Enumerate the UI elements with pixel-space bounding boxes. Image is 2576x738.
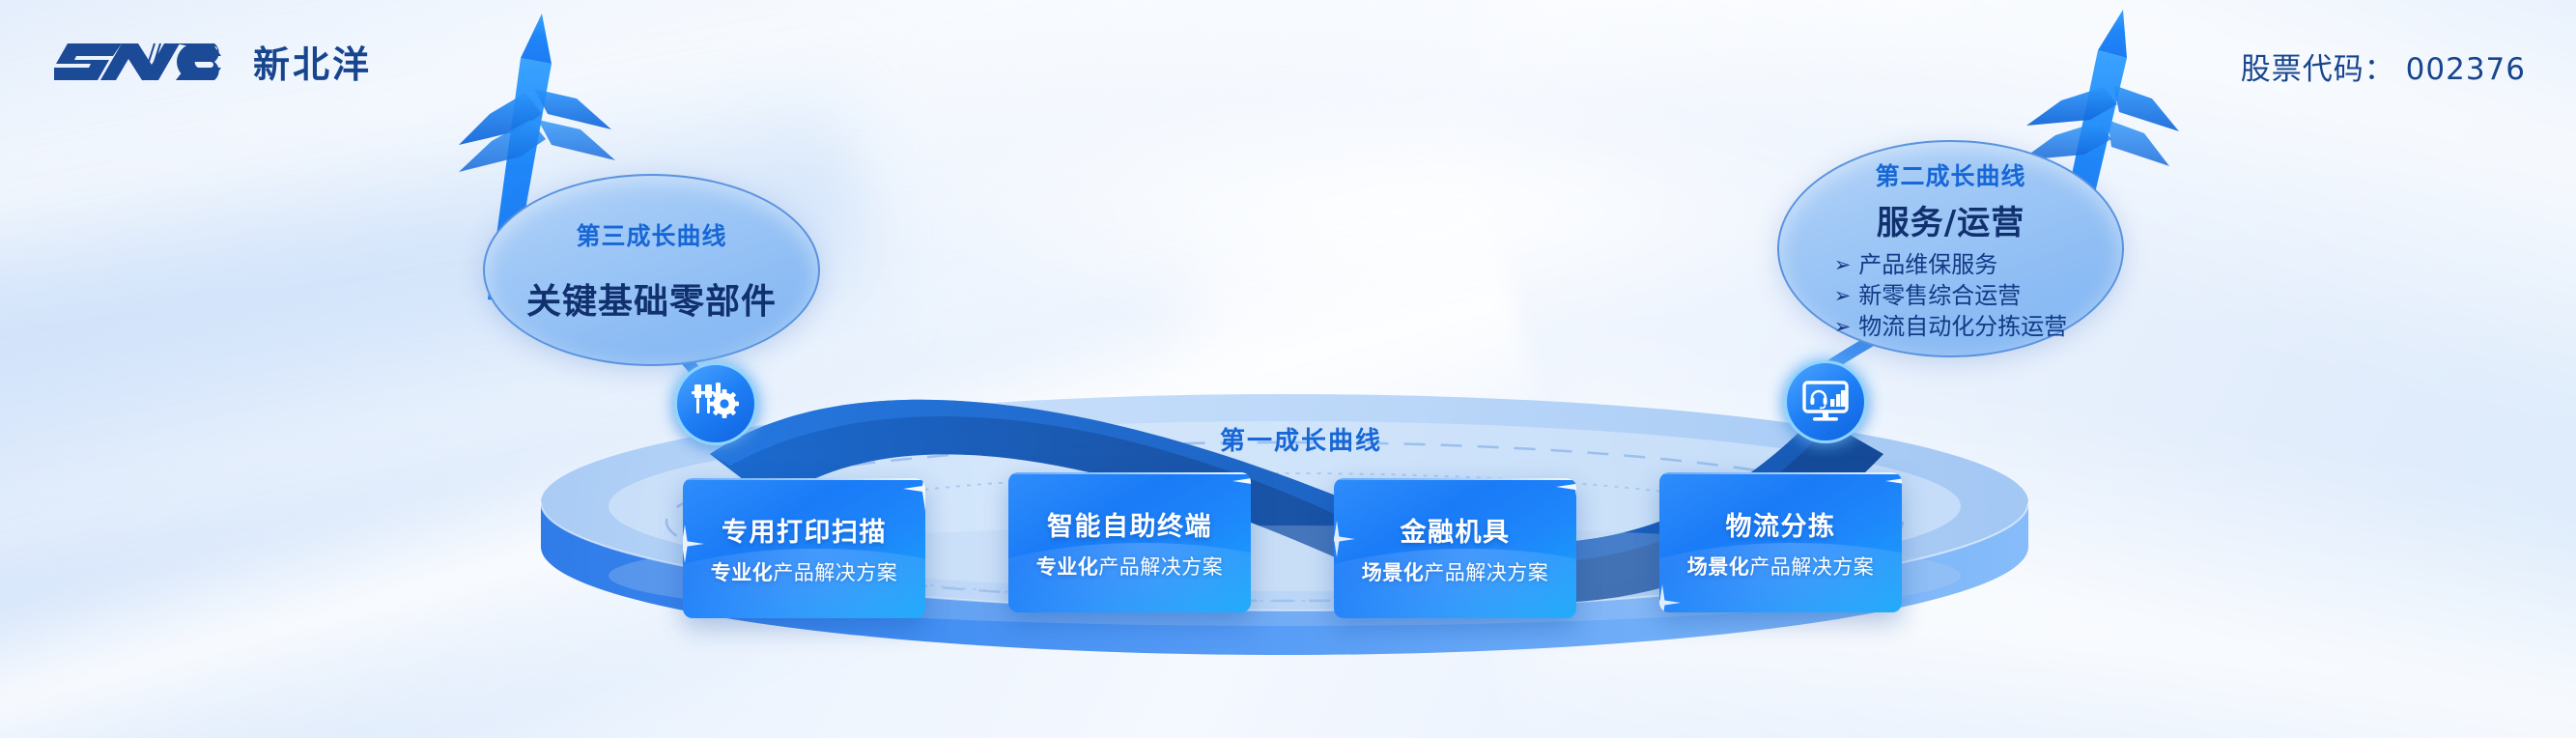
sparkle-icon [683, 525, 704, 563]
infographic-canvas: 新北洋 股票代码： 002376 第三成长曲线 关键基础零部件 第二成长曲线 服… [0, 0, 2576, 738]
card-subtitle: 场景化产品解决方案 [1362, 557, 1549, 586]
first-curve-label: 第一成长曲线 [1220, 421, 1382, 457]
sliders-gear-icon[interactable] [674, 362, 757, 445]
list-item: ➢ 新零售综合运营 [1834, 280, 2068, 311]
card-subtitle-strong: 场景化 [1362, 561, 1425, 584]
brand-logo-cn: 新北洋 [253, 35, 372, 88]
monitor-headset-chart-icon[interactable] [1784, 360, 1867, 443]
card-subtitle-strong: 专业化 [1036, 555, 1099, 579]
list-item-label: 新零售综合运营 [1858, 280, 2021, 311]
sparkle-icon [1334, 521, 1355, 557]
card-subtitle: 专业化产品解决方案 [711, 557, 898, 586]
card-subtitle-rest: 产品解决方案 [773, 561, 897, 584]
bullet-arrow-icon: ➢ [1834, 317, 1852, 337]
third-curve-tag: 第三成长曲线 [576, 217, 726, 252]
card-subtitle-rest: 产品解决方案 [1424, 561, 1548, 584]
growth-curve-graphic [0, 0, 2576, 738]
brand-logo: 新北洋 [54, 35, 372, 88]
second-curve-headline: 服务/运营 [1877, 196, 2024, 243]
snbc-logo-icon [54, 36, 238, 88]
sparkle-icon [1659, 584, 1681, 612]
list-item: ➢ 物流自动化分拣运营 [1834, 311, 2068, 342]
card-title: 金融机具 [1401, 511, 1511, 549]
card-subtitle: 场景化产品解决方案 [1687, 552, 1875, 581]
card-subtitle-strong: 场景化 [1687, 555, 1750, 579]
second-curve-tag: 第二成长曲线 [1875, 157, 2025, 192]
card-subtitle-strong: 专业化 [711, 561, 774, 584]
third-growth-curve-bubble[interactable]: 第三成长曲线 关键基础零部件 [483, 174, 820, 366]
sparkle-icon [1885, 472, 1902, 503]
card-subtitle-rest: 产品解决方案 [1749, 555, 1874, 579]
card-title: 物流分拣 [1726, 505, 1836, 543]
card-title: 专用打印扫描 [722, 511, 887, 549]
card-subtitle-rest: 产品解决方案 [1098, 555, 1223, 579]
list-item-label: 产品维保服务 [1858, 249, 1997, 280]
card-subtitle: 专业化产品解决方案 [1036, 552, 1224, 581]
third-curve-headline: 关键基础零部件 [526, 273, 777, 324]
product-card-logistics[interactable]: 物流分拣 场景化产品解决方案 [1659, 472, 1902, 612]
second-growth-curve-bubble[interactable]: 第二成长曲线 服务/运营 ➢ 产品维保服务 ➢ 新零售综合运营 ➢ 物流自动化分… [1777, 140, 2124, 357]
product-card-printing[interactable]: 专用打印扫描 专业化产品解决方案 [683, 478, 925, 618]
bullet-arrow-icon: ➢ [1834, 255, 1852, 275]
product-card-self-service[interactable]: 智能自助终端 专业化产品解决方案 [1008, 472, 1251, 612]
card-title: 智能自助终端 [1047, 505, 1212, 543]
sparkle-icon [1556, 478, 1576, 509]
list-item-label: 物流自动化分拣运营 [1858, 311, 2067, 342]
list-item: ➢ 产品维保服务 [1834, 249, 2068, 280]
product-card-financial[interactable]: 金融机具 场景化产品解决方案 [1334, 478, 1576, 618]
stock-code: 股票代码： 002376 [2241, 44, 2526, 88]
bullet-arrow-icon: ➢ [1834, 286, 1852, 306]
sparkle-icon [1232, 472, 1251, 503]
second-curve-item-list: ➢ 产品维保服务 ➢ 新零售综合运营 ➢ 物流自动化分拣运营 [1834, 249, 2068, 342]
sparkle-icon [903, 478, 925, 511]
